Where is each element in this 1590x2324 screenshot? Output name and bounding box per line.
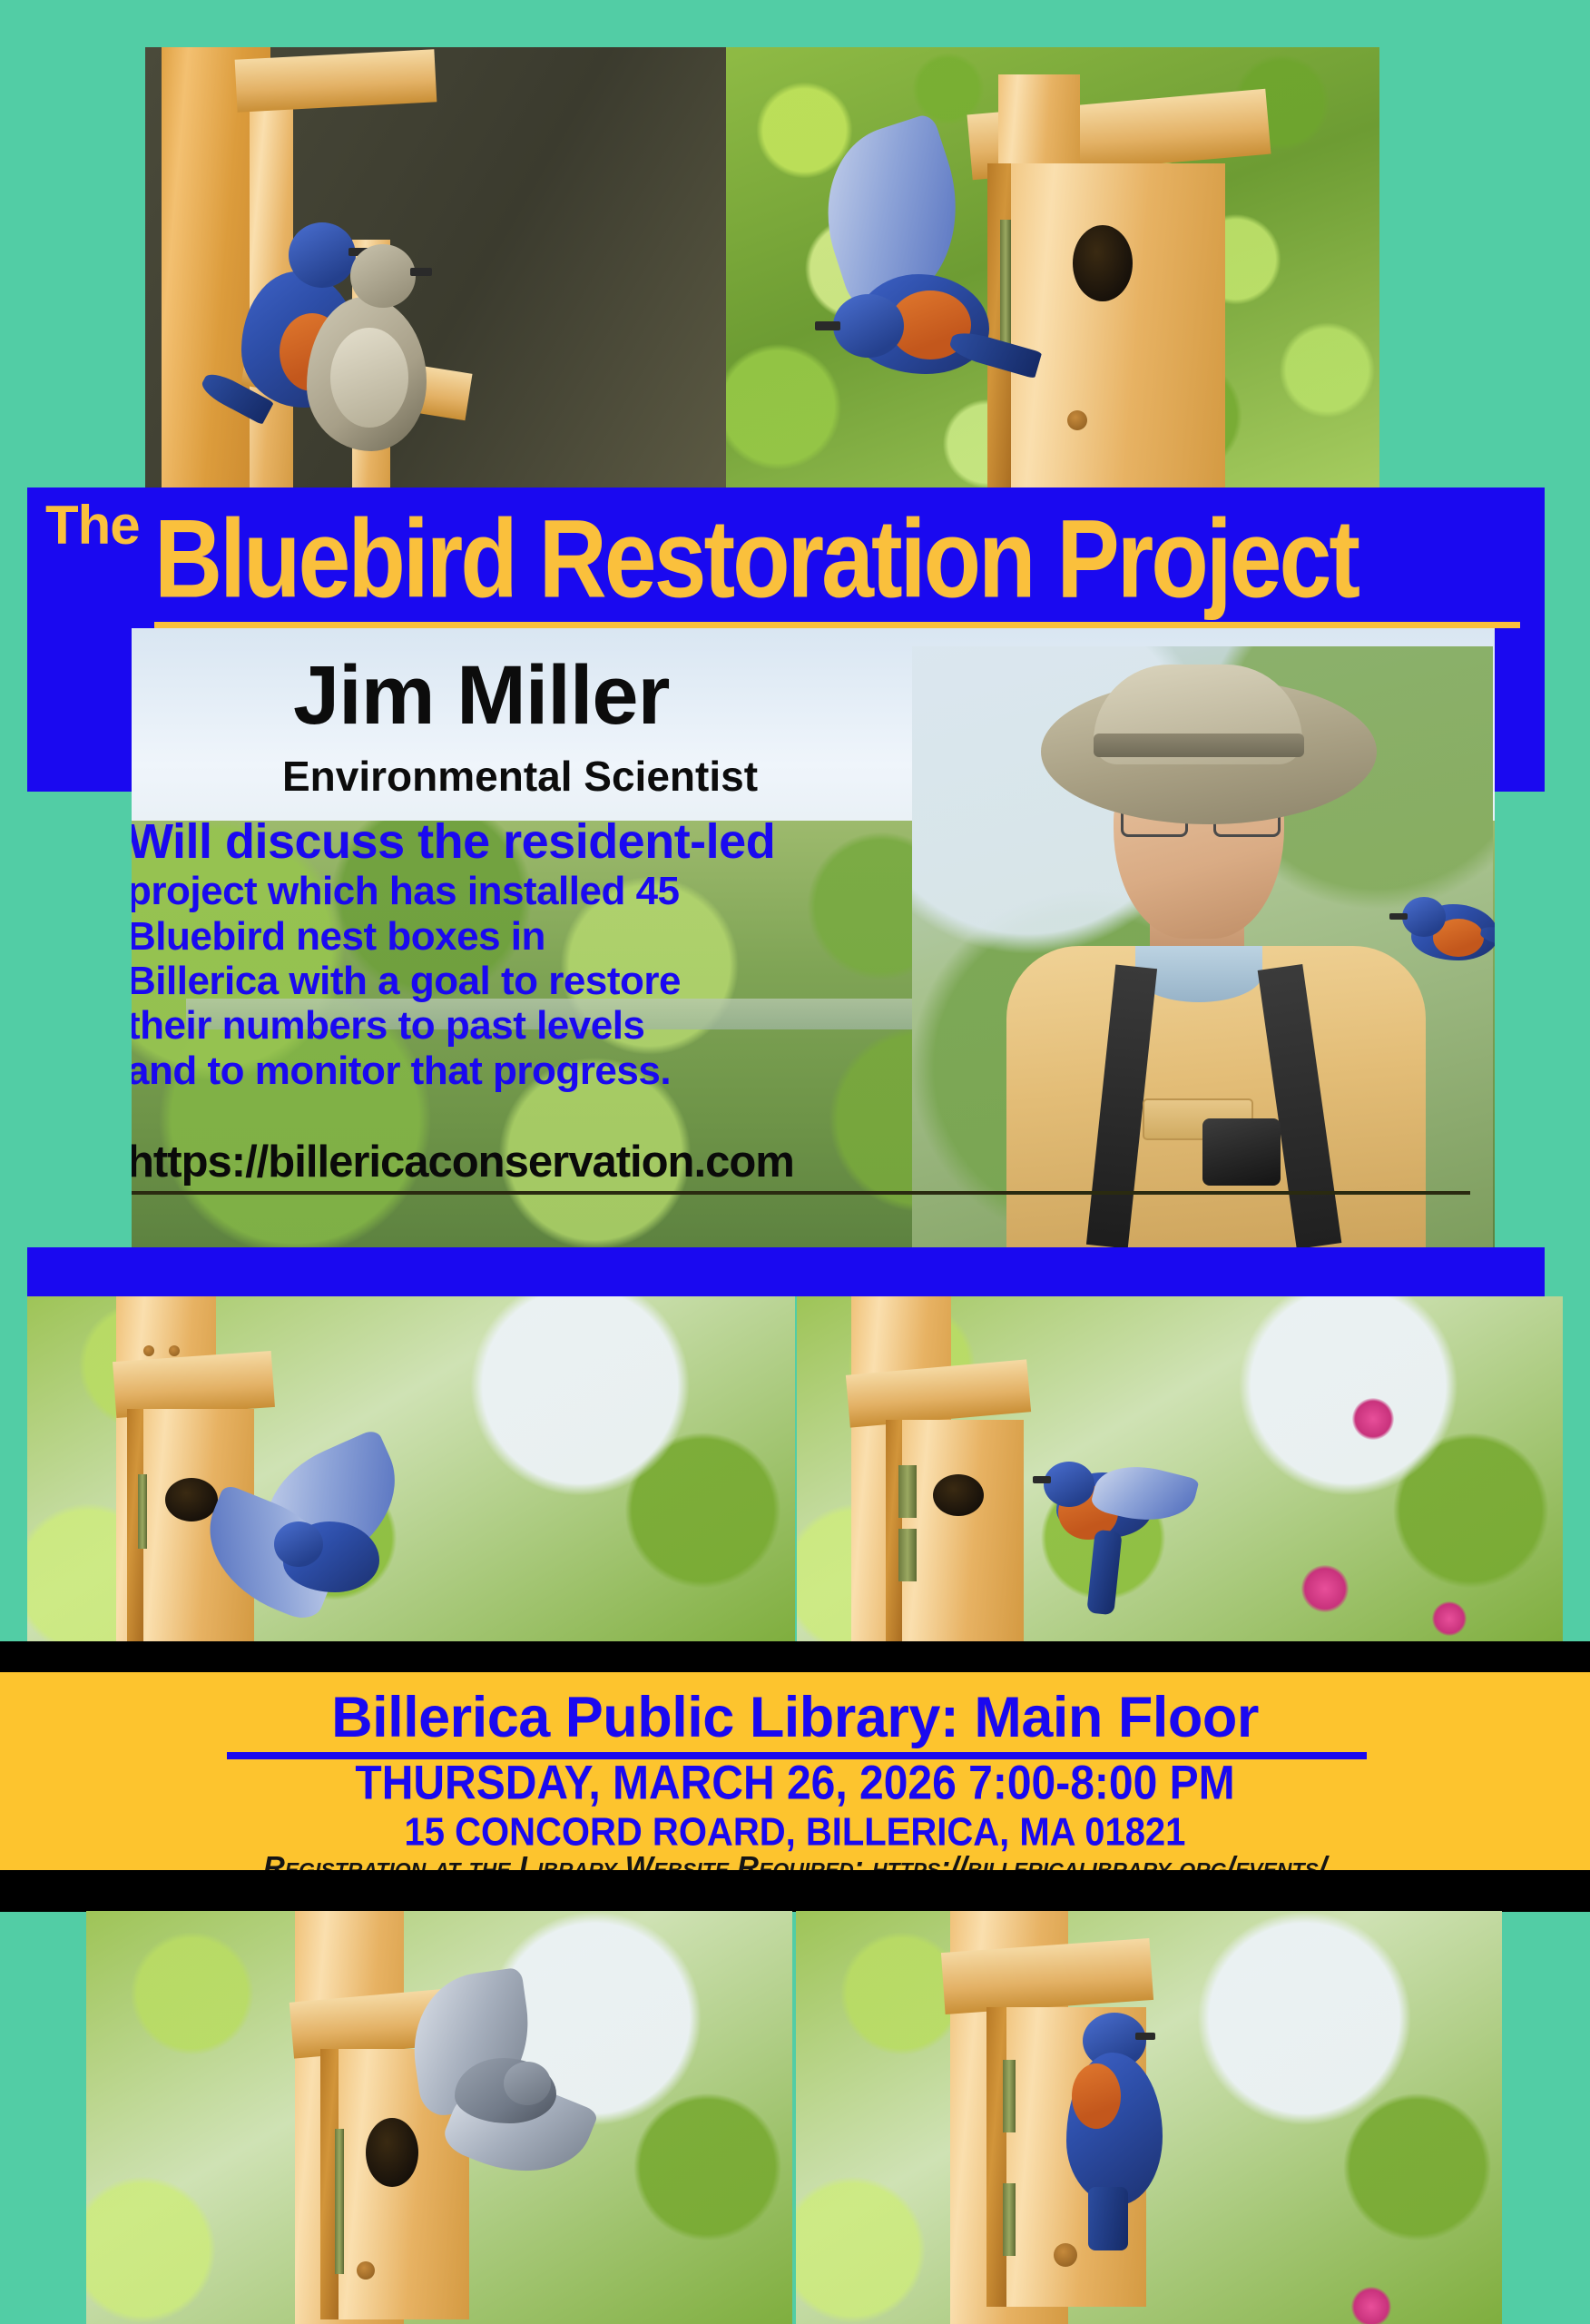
event-banner: Billerica Public Library: Main Floor THU…	[0, 1672, 1590, 1870]
speaker-role: Environmental Scientist	[282, 755, 758, 797]
bird-with-insect	[1046, 2013, 1210, 2249]
event-address: 15 CONCORD ROARD, BILLERICA, MA 01821	[0, 1810, 1590, 1856]
title-underline	[154, 622, 1520, 628]
speaker-description: Will discuss the resident-led project wh…	[132, 814, 844, 1093]
speaker-description-lead: Will discuss the resident-led	[132, 814, 775, 869]
bottom-photo-strip	[86, 1911, 1502, 2324]
page-title: Bluebird Restoration Project	[154, 504, 1358, 615]
divider-bar-top	[0, 1641, 1590, 1672]
photo-bird-flying-from-box	[86, 1911, 792, 2324]
event-datetime: THURSDAY, MARCH 26, 2026 7:00-8:00 PM	[0, 1756, 1590, 1811]
photo-bluebird-in-flight-nestbox	[726, 47, 1379, 508]
speaker-portrait-photo	[912, 646, 1493, 1247]
lower-blue-strip	[27, 1247, 1545, 1296]
speaker-description-line-3: Bluebird nest boxes in	[132, 914, 545, 959]
speaker-description-line-2: project which has installed 45	[132, 869, 680, 913]
conservation-url-underline	[132, 1191, 1470, 1195]
bird-flying	[780, 129, 1044, 392]
conservation-url-link[interactable]: https://billericaconservation.com	[132, 1137, 794, 1187]
poster-root: The Bluebird Restoration Project	[0, 0, 1590, 2324]
title-prefix: The	[45, 498, 140, 553]
speaker-description-line-6: and to monitor that progress.	[132, 1049, 671, 1093]
bird-fledgling	[298, 233, 470, 487]
portrait-camera	[1202, 1118, 1281, 1186]
speaker-block: Jim Miller Environmental Scientist Will …	[132, 628, 1495, 1247]
bird-departing	[386, 1974, 622, 2201]
divider-bar-bottom	[0, 1870, 1590, 1912]
middle-photo-strip	[27, 1296, 1563, 1641]
title-line: The Bluebird Restoration Project	[27, 487, 1545, 619]
bird-hovering	[1035, 1452, 1198, 1607]
portrait-hat-band	[1094, 734, 1304, 757]
bird-perched-on-shoulder	[1402, 877, 1495, 986]
speaker-description-line-5: their numbers to past levels	[132, 1003, 644, 1048]
speaker-name: Jim Miller	[293, 654, 669, 737]
bird-landing	[196, 1452, 441, 1634]
event-venue: Billerica Public Library: Main Floor	[0, 1685, 1590, 1750]
photo-adult-feeding-fledgling	[145, 47, 726, 508]
speaker-description-line-4: Billerica with a goal to restore	[132, 959, 681, 1003]
bird-adult	[234, 206, 407, 442]
photo-bluebird-hovering-open-box	[797, 1296, 1563, 1641]
top-photo-strip	[0, 0, 1590, 508]
photo-bluebird-landing-at-hole	[27, 1296, 795, 1641]
photo-male-bluebird-at-hole	[796, 1911, 1502, 2324]
